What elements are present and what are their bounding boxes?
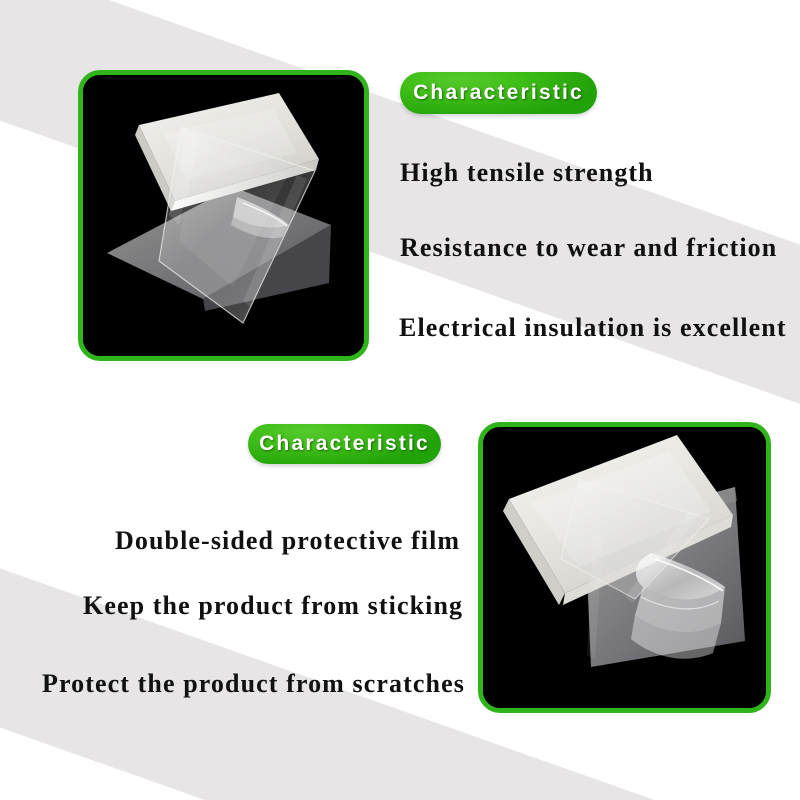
- badge-label: Characteristic: [413, 81, 584, 105]
- acrylic-sheets-illustration-top: [83, 75, 364, 356]
- feature-line-keep-from-sticking: Keep the product from sticking: [83, 591, 463, 621]
- product-feature-graphic: Characteristic Characteristic High tensi…: [0, 0, 800, 800]
- feature-line-high-tensile-strength: High tensile strength: [400, 158, 654, 188]
- badge-label: Characteristic: [259, 432, 430, 456]
- product-photo-top: [78, 70, 369, 361]
- acrylic-sheets-illustration-bottom: [483, 427, 766, 708]
- feature-line-protect-from-scratches: Protect the product from scratches: [42, 669, 465, 699]
- badge-characteristic-bottom: Characteristic: [248, 424, 441, 464]
- feature-line-double-sided-film: Double-sided protective film: [115, 526, 460, 556]
- badge-characteristic-top: Characteristic: [400, 72, 597, 114]
- product-photo-bottom: [478, 422, 771, 713]
- feature-line-resistance-wear-friction: Resistance to wear and friction: [400, 233, 777, 263]
- feature-line-electrical-insulation: Electrical insulation is excellent: [399, 313, 787, 343]
